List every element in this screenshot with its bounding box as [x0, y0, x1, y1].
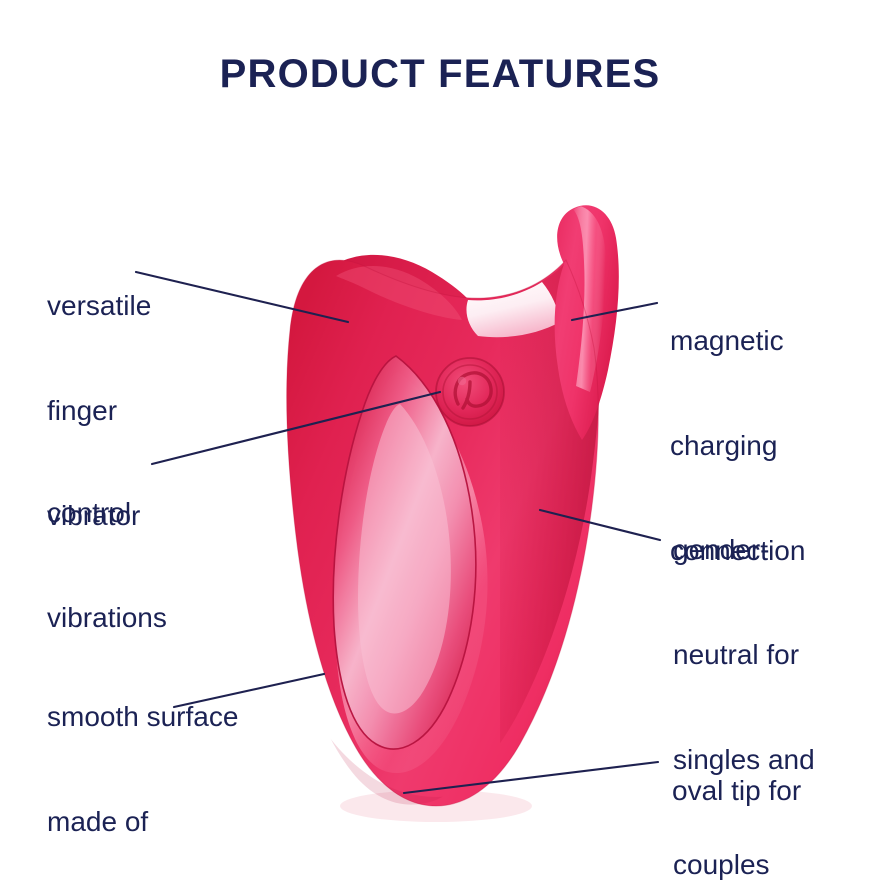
- feature-line: oval tip for: [672, 773, 806, 808]
- feature-line: magnetic: [670, 323, 805, 358]
- product-control-button[interactable]: [436, 358, 504, 426]
- control-button-gloss: [458, 377, 466, 385]
- feature-line: finger: [47, 393, 151, 428]
- feature-label-smooth-surface-silicone: smooth surface made of body-friendly sil…: [47, 629, 238, 880]
- feature-line: charging: [670, 428, 805, 463]
- feature-line: smooth surface: [47, 699, 238, 734]
- feature-line: versatile: [47, 288, 151, 323]
- product-features-infographic: PRODUCT FEATURES: [0, 0, 880, 880]
- feature-label-oval-tip-targeted-stimulation: oval tip for targeted stimulation: [672, 703, 806, 880]
- feature-line: gender-: [673, 532, 815, 567]
- feature-line: made of: [47, 804, 238, 839]
- feature-line: control: [47, 495, 167, 530]
- feature-line: neutral for: [673, 637, 815, 672]
